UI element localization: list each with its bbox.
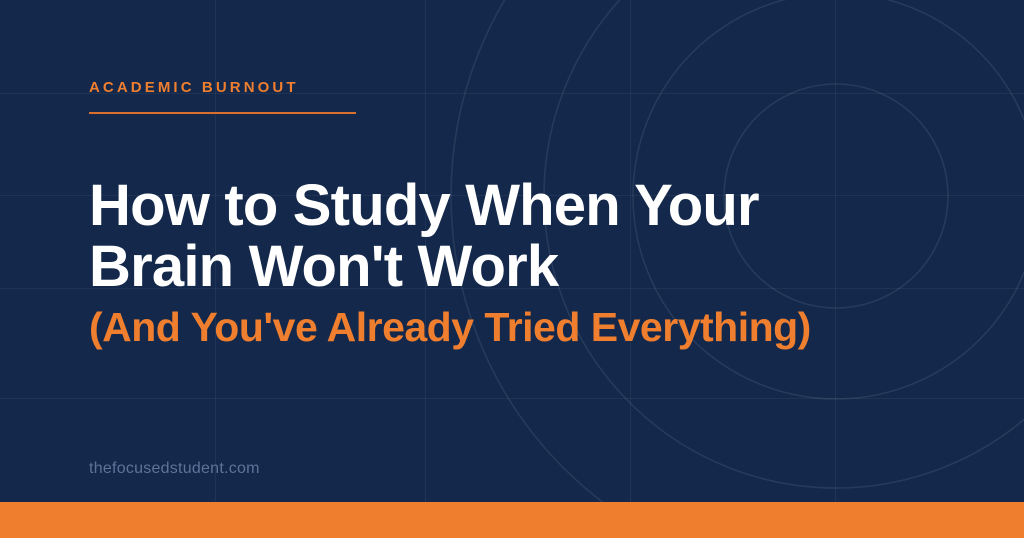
site-url-label: thefocusedstudent.com [89,461,260,477]
page-title-line-1: How to Study When Your [89,176,759,237]
page-subtitle: (And You've Already Tried Everything) [89,305,811,350]
hero-banner: ACADEMIC BURNOUT How to Study When Your … [0,0,1024,538]
category-eyebrow: ACADEMIC BURNOUT [89,80,356,95]
page-title: How to Study When Your Brain Won't Work [89,176,759,297]
bottom-accent-bar [0,502,1024,538]
eyebrow-divider [89,112,356,114]
banner-content: ACADEMIC BURNOUT How to Study When Your … [0,0,1024,538]
eyebrow-block: ACADEMIC BURNOUT [89,80,356,114]
page-title-line-2: Brain Won't Work [89,237,759,298]
